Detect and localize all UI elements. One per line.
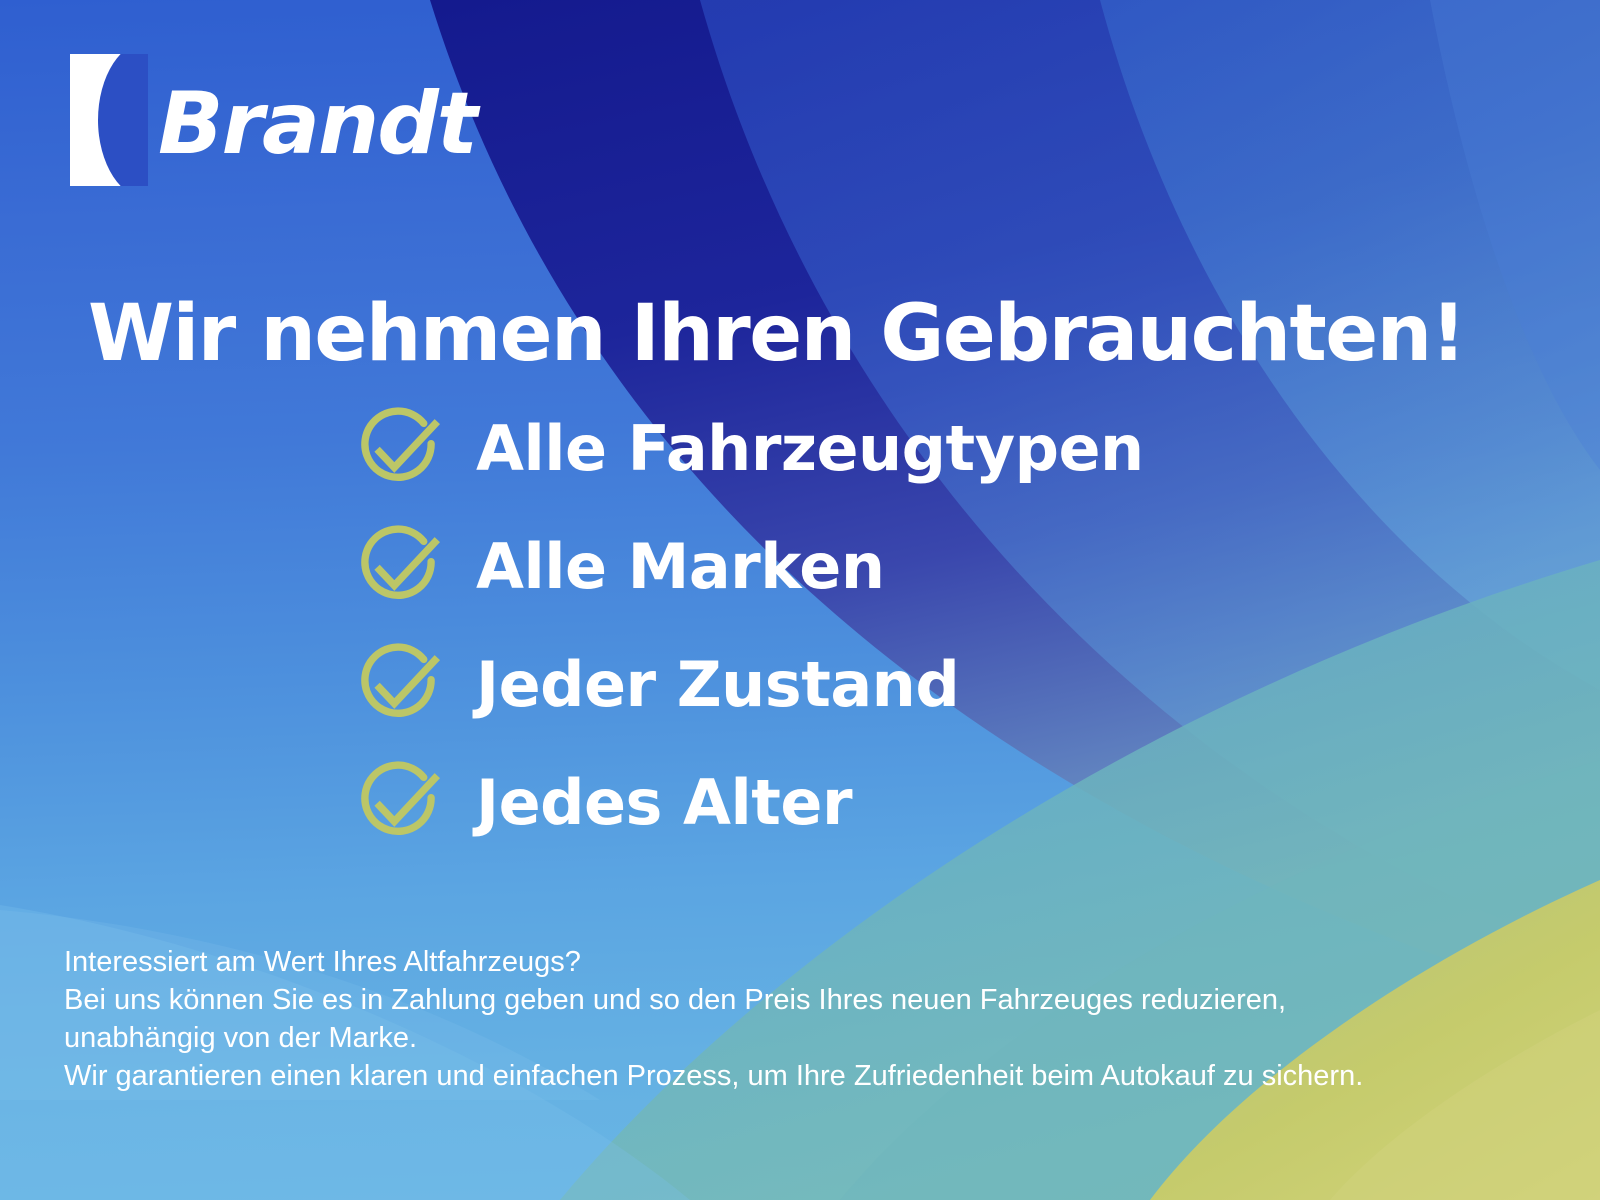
brandt-bracket-icon: [70, 54, 148, 186]
check-circle-icon: [352, 523, 444, 615]
check-circle-icon: [352, 759, 444, 851]
description-line-4: Wir garantieren einen klaren und einfach…: [64, 1057, 1544, 1095]
feature-list: Alle Fahrzeugtypen Alle Marken Jeder Zus…: [352, 392, 1144, 864]
description-line-3: unabhängig von der Marke.: [64, 1019, 1544, 1057]
list-item: Alle Marken: [352, 510, 1144, 628]
description-text: Interessiert am Wert Ihres Altfahrzeugs?…: [64, 943, 1544, 1095]
check-circle-icon: [352, 641, 444, 733]
list-item: Jedes Alter: [352, 746, 1144, 864]
list-item: Alle Fahrzeugtypen: [352, 392, 1144, 510]
list-item-label: Alle Fahrzeugtypen: [476, 418, 1144, 480]
description-line-1: Interessiert am Wert Ihres Altfahrzeugs?: [64, 943, 1544, 981]
list-item-label: Alle Marken: [476, 536, 885, 598]
brand-logo[interactable]: Brandt: [70, 54, 476, 186]
list-item-label: Jeder Zustand: [476, 654, 959, 716]
brand-name: Brandt: [158, 81, 476, 167]
list-item-label: Jedes Alter: [476, 772, 852, 834]
check-circle-icon: [352, 405, 444, 497]
list-item: Jeder Zustand: [352, 628, 1144, 746]
page-title: Wir nehmen Ihren Gebrauchten!: [88, 295, 1528, 375]
promo-banner: Brandt Wir nehmen Ihren Gebrauchten! All…: [0, 0, 1600, 1200]
description-line-2: Bei uns können Sie es in Zahlung geben u…: [64, 981, 1544, 1019]
